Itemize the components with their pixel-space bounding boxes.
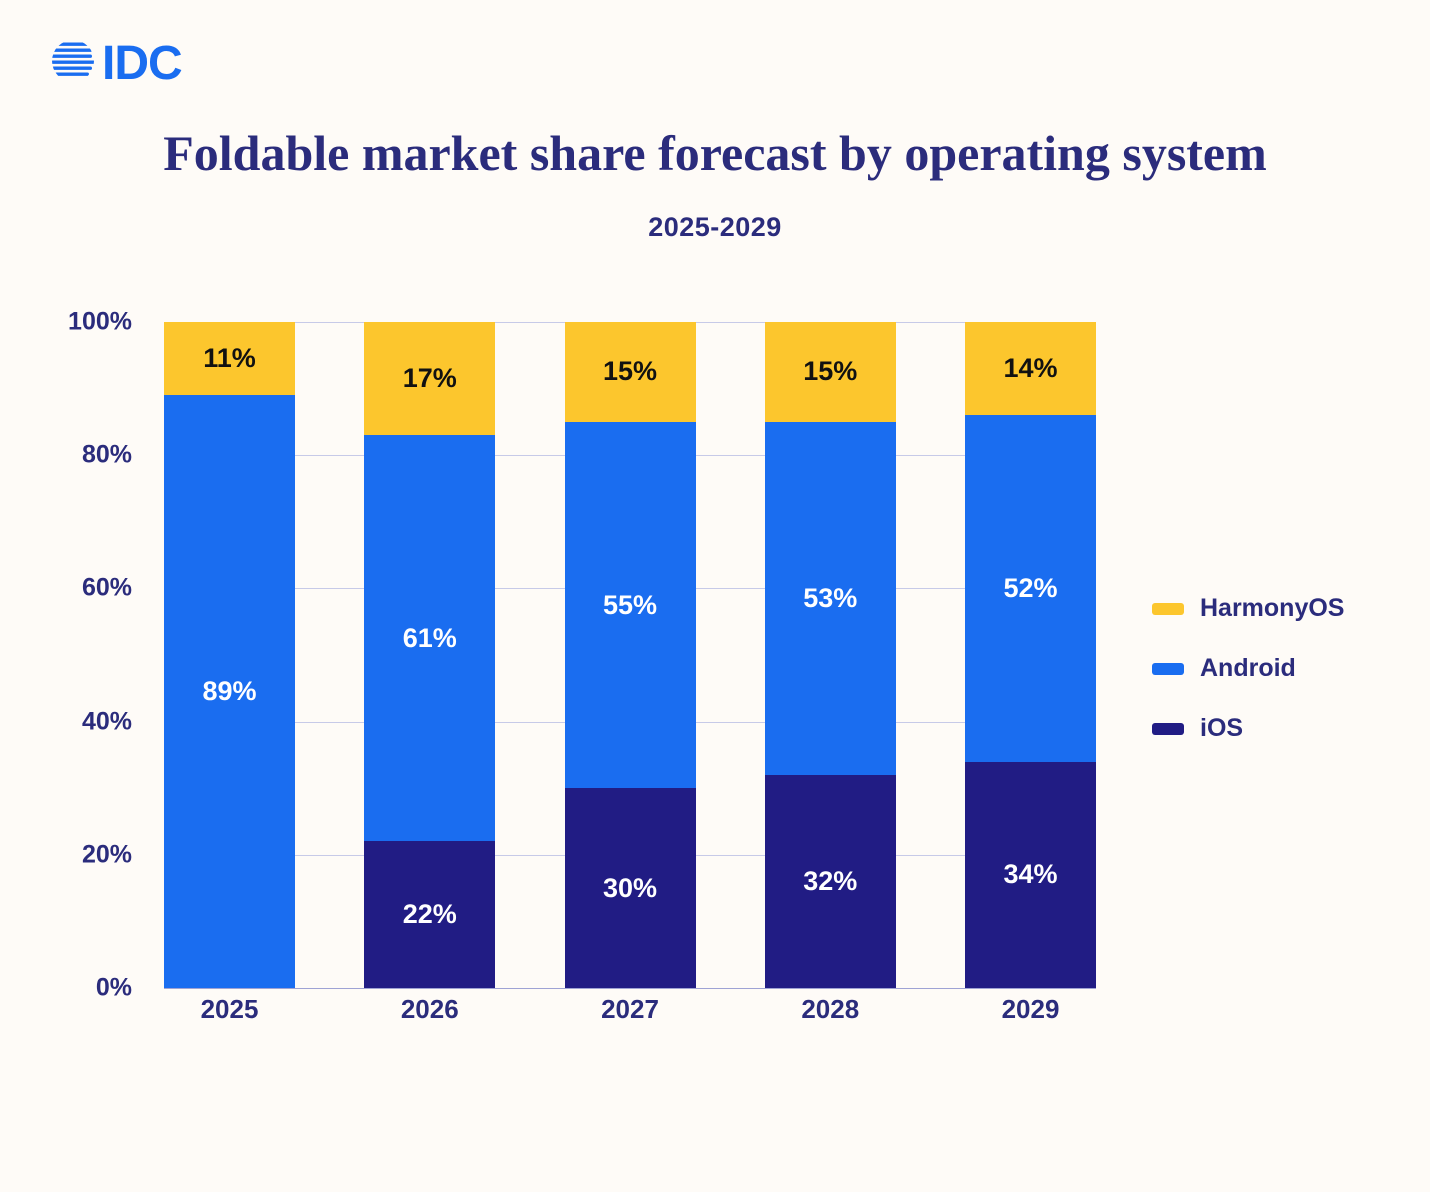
legend-swatch-icon (1152, 603, 1184, 615)
chart-title: Foldable market share forecast by operat… (0, 126, 1430, 181)
bar-segment-harmonyos-2026[interactable]: 17% (364, 322, 495, 435)
bar-group: 11%89%17%61%22%15%55%30%15%53%32%14%52%3… (164, 322, 1096, 988)
bar-value-label: 15% (803, 358, 857, 385)
bar-column-2025[interactable]: 11%89% (164, 322, 295, 988)
x-axis-tick-label-2029: 2029 (965, 994, 1096, 1025)
y-axis-tick-label: 60% (82, 574, 132, 603)
bar-value-label: 55% (603, 592, 657, 619)
legend-label: Android (1200, 654, 1296, 683)
bar-segment-android-2028[interactable]: 53% (765, 422, 896, 775)
bar-value-label: 53% (803, 585, 857, 612)
legend-item-harmonyos[interactable]: HarmonyOS (1152, 594, 1344, 623)
x-axis: 20252026202720282029 (164, 994, 1096, 1025)
bar-segment-harmonyos-2028[interactable]: 15% (765, 322, 896, 422)
bar-value-label: 14% (1003, 355, 1057, 382)
idc-globe-icon (50, 38, 96, 89)
x-axis-tick-label-2026: 2026 (364, 994, 495, 1025)
bar-value-label: 34% (1003, 861, 1057, 888)
legend-label: HarmonyOS (1200, 594, 1344, 623)
legend-item-ios[interactable]: iOS (1152, 714, 1344, 743)
bar-value-label: 32% (803, 868, 857, 895)
bar-value-label: 15% (603, 358, 657, 385)
y-axis-tick-label: 40% (82, 707, 132, 736)
bar-segment-ios-2026[interactable]: 22% (364, 841, 495, 988)
y-axis-tick-label: 100% (68, 308, 132, 337)
bar-segment-ios-2029[interactable]: 34% (965, 762, 1096, 988)
y-axis-tick-label: 20% (82, 840, 132, 869)
bar-value-label: 89% (202, 678, 256, 705)
legend-swatch-icon (1152, 663, 1184, 675)
legend-swatch-icon (1152, 723, 1184, 735)
bar-segment-android-2026[interactable]: 61% (364, 435, 495, 841)
bar-column-2029[interactable]: 14%52%34% (965, 322, 1096, 988)
bar-value-label: 52% (1003, 575, 1057, 602)
bar-segment-harmonyos-2029[interactable]: 14% (965, 322, 1096, 415)
legend-item-android[interactable]: Android (1152, 654, 1344, 683)
bar-column-2027[interactable]: 15%55%30% (565, 322, 696, 988)
bar-segment-harmonyos-2027[interactable]: 15% (565, 322, 696, 422)
y-axis-tick-label: 80% (82, 441, 132, 470)
bar-segment-android-2027[interactable]: 55% (565, 422, 696, 788)
idc-logo: IDC (50, 38, 182, 89)
idc-logo-text: IDC (102, 40, 182, 88)
x-axis-tick-label-2027: 2027 (565, 994, 696, 1025)
bar-value-label: 17% (403, 365, 457, 392)
legend-label: iOS (1200, 714, 1243, 743)
y-axis: 0%20%40%60%80%100% (0, 322, 148, 988)
bar-value-label: 11% (203, 345, 256, 372)
gridline (164, 988, 1096, 989)
bar-segment-harmonyos-2025[interactable]: 11% (164, 322, 295, 395)
x-axis-tick-label-2025: 2025 (164, 994, 295, 1025)
bar-value-label: 30% (603, 875, 657, 902)
bar-value-label: 61% (403, 625, 457, 652)
bar-segment-android-2029[interactable]: 52% (965, 415, 1096, 761)
chart-legend: HarmonyOSAndroidiOS (1152, 594, 1344, 743)
plot-area: 11%89%17%61%22%15%55%30%15%53%32%14%52%3… (164, 322, 1096, 988)
bar-segment-android-2025[interactable]: 89% (164, 395, 295, 988)
x-axis-tick-label-2028: 2028 (765, 994, 896, 1025)
y-axis-tick-label: 0% (96, 974, 132, 1003)
bar-segment-ios-2028[interactable]: 32% (765, 775, 896, 988)
chart-subtitle: 2025-2029 (0, 212, 1430, 243)
bar-column-2028[interactable]: 15%53%32% (765, 322, 896, 988)
bar-value-label: 22% (403, 901, 457, 928)
bar-segment-ios-2027[interactable]: 30% (565, 788, 696, 988)
bar-column-2026[interactable]: 17%61%22% (364, 322, 495, 988)
